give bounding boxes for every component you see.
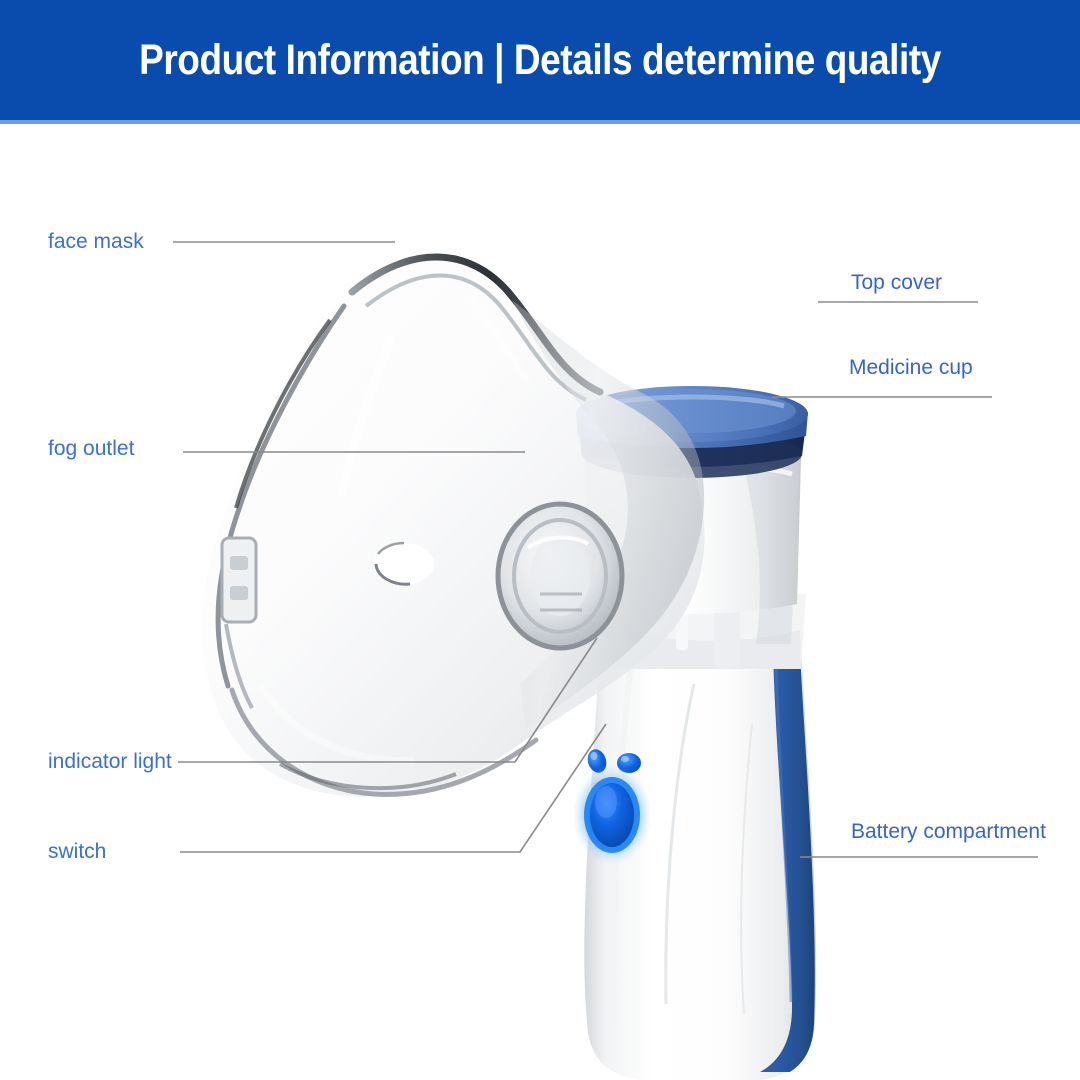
callout-label-top-cover: Top cover [851,272,942,293]
callout-label-face-mask: face mask [48,231,144,252]
switch-button[interactable] [572,765,652,865]
fog-outlet-port [498,504,622,648]
page-title: Product Information | Details determine … [76,0,1005,120]
product-image [0,124,1080,1080]
callout-label-switch: switch [48,841,106,862]
callout-label-fog-outlet: fog outlet [48,438,134,459]
mask-vent-hole [374,543,434,585]
callout-label-battery-compartment: Battery compartment [851,821,1046,842]
product-illustration-stage [0,124,1080,1080]
callout-label-medicine-cup: Medicine cup [849,357,973,378]
callout-label-indicator-light: indicator light [48,751,172,772]
